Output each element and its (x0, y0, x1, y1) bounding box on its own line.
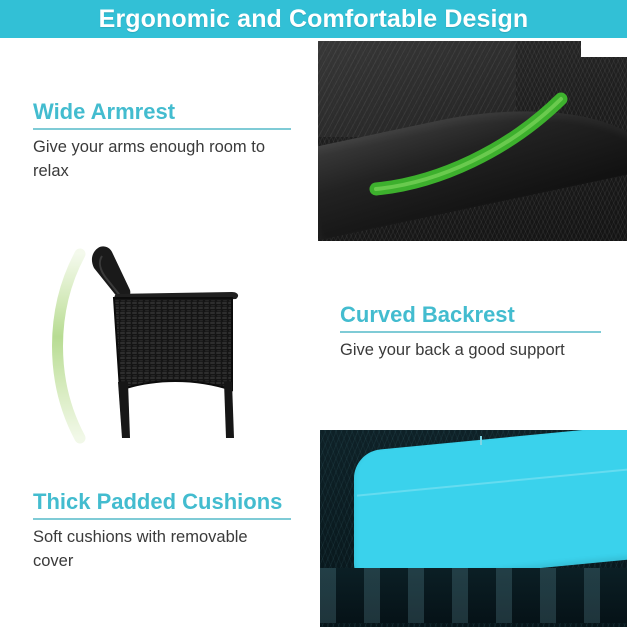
header-banner: Ergonomic and Comfortable Design (0, 0, 627, 38)
green-highlight-curve-icon (318, 41, 627, 241)
feature-title-curved-backrest: Curved Backrest (340, 303, 601, 327)
feature-thick-padded-cushions: Thick Padded Cushions Soft cushions with… (33, 490, 291, 574)
turquoise-cushion (354, 430, 627, 586)
feature-title-thick-padded-cushions: Thick Padded Cushions (33, 490, 291, 514)
feature-divider (33, 128, 291, 130)
page-title: Ergonomic and Comfortable Design (99, 5, 529, 34)
chair-profile-illustration (36, 232, 286, 452)
feature-divider (33, 518, 291, 520)
feature-title-wide-armrest: Wide Armrest (33, 100, 291, 124)
feature-description-curved-backrest: Give your back a good support (340, 339, 601, 363)
photo-corner-notch (581, 41, 627, 57)
feature-curved-backrest: Curved Backrest Give your back a good su… (340, 303, 601, 363)
photo-cushion-closeup (320, 430, 627, 627)
infographic-page: Ergonomic and Comfortable Design Wide Ar… (0, 0, 627, 627)
photo-chair-profile (36, 232, 286, 452)
feature-divider (340, 331, 601, 333)
feature-description-thick-padded-cushions: Soft cushions with removable cover (33, 526, 291, 574)
feature-description-wide-armrest: Give your arms enough room to relax (33, 136, 291, 184)
feature-wide-armrest: Wide Armrest Give your arms enough room … (33, 100, 291, 184)
photo-armrest-closeup (318, 41, 627, 241)
rattan-base-row (320, 568, 627, 623)
cushion-tag (480, 436, 482, 445)
